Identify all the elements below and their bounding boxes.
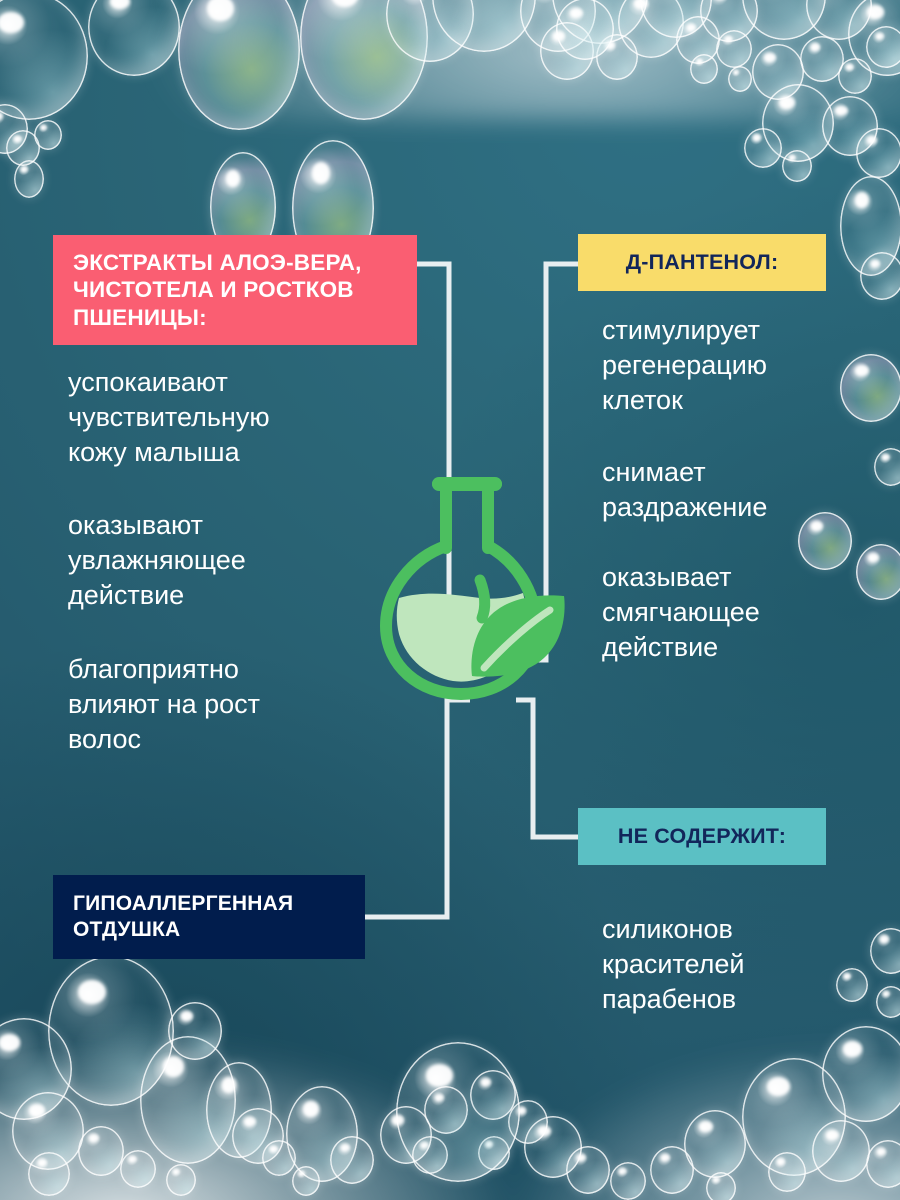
bubble <box>206 1062 272 1158</box>
bubble <box>556 0 614 60</box>
heading-panthenol: Д-ПАНТЕНОЛ: <box>578 234 826 291</box>
bubble <box>292 1166 320 1196</box>
bubble <box>676 16 720 64</box>
bubble <box>34 120 62 150</box>
bubble <box>0 1018 72 1120</box>
bubble <box>412 1136 448 1174</box>
bubble <box>140 1036 236 1164</box>
bubble <box>478 1136 510 1170</box>
bubble <box>840 176 900 276</box>
bubble <box>14 160 44 198</box>
bubble <box>860 252 900 300</box>
bubble <box>822 96 878 156</box>
bubble <box>744 128 782 168</box>
bubble <box>856 128 900 178</box>
bubble <box>12 1092 84 1170</box>
flask-rim <box>432 477 502 491</box>
bubble <box>716 30 752 68</box>
bubble <box>728 66 752 92</box>
bubble <box>768 1152 806 1192</box>
bubble <box>812 1120 870 1182</box>
bubble <box>330 1136 374 1184</box>
bubble <box>552 0 648 44</box>
bubble <box>752 44 804 100</box>
bubble <box>48 956 174 1106</box>
bubble <box>866 1140 900 1188</box>
bubble <box>168 1002 222 1060</box>
ingredients-item-1: успокаивают чувствительную кожу малыша <box>68 365 388 470</box>
bubble <box>508 1100 548 1144</box>
bubble <box>838 58 872 94</box>
panthenol-item-1: стимулирует регенерацию клеток <box>602 313 892 418</box>
leaf-stem <box>480 580 485 618</box>
heading-ingredients: ЭКСТРАКТЫ АЛОЭ-ВЕРА, ЧИСТОТЕЛА И РОСТКОВ… <box>53 235 417 345</box>
panthenol-item-3: оказывает смягчающее действие <box>602 560 892 665</box>
flask-outline <box>438 484 496 548</box>
bubble <box>706 1172 736 1200</box>
bubble <box>690 54 718 84</box>
bubble <box>380 1106 432 1164</box>
free-from-item-1: силиконов красителей парабенов <box>602 912 892 1017</box>
bubble <box>178 0 300 130</box>
bubble <box>566 1146 610 1194</box>
bubble <box>6 130 40 166</box>
bubble <box>286 1086 358 1182</box>
heading-free-from: НЕ СОДЕРЖИТ: <box>578 808 826 865</box>
bubble <box>386 0 474 62</box>
ingredients-item-3: благоприятно влияют на рост волос <box>68 652 388 757</box>
bubble <box>120 1150 156 1188</box>
bubble <box>0 0 88 120</box>
bubble <box>300 0 428 120</box>
bubble <box>866 26 900 68</box>
bubble <box>800 36 844 82</box>
infographic-poster: ЭКСТРАКТЫ АЛОЭ-ВЕРА, ЧИСТОТЕЛА И РОСТКОВ… <box>0 0 900 1200</box>
bubble <box>822 1026 900 1122</box>
bubble <box>432 0 536 52</box>
bubble <box>524 1116 582 1178</box>
ingredients-item-2: оказывают увлажняющее действие <box>68 508 388 613</box>
bubble <box>806 0 872 40</box>
bubble <box>78 1126 124 1176</box>
bubble <box>782 150 812 182</box>
flask-with-leaf-icon <box>368 462 584 702</box>
bubble <box>762 84 834 162</box>
bubble <box>0 104 28 154</box>
foam-haze-bottom <box>0 1010 900 1200</box>
bubble <box>540 22 594 80</box>
bubble <box>610 1162 646 1200</box>
panthenol-item-2: снимает раздражение <box>602 455 892 525</box>
heading-fragrance: ГИПОАЛЛЕРГЕННАЯ ОТДУШКА <box>53 875 365 959</box>
bubble <box>28 1152 70 1196</box>
bubble <box>700 0 758 42</box>
bubble <box>742 0 826 40</box>
bubble <box>596 34 638 80</box>
bubble <box>88 0 180 76</box>
bubble <box>396 1042 520 1182</box>
bubble <box>470 1070 516 1120</box>
bubble <box>848 0 900 76</box>
bubble <box>232 1108 284 1164</box>
bubble <box>742 1058 846 1176</box>
bubble <box>262 1140 296 1176</box>
bubble <box>166 1164 196 1196</box>
bubble <box>640 0 712 38</box>
bubble <box>650 1146 694 1194</box>
bubble <box>684 1110 746 1178</box>
bubble <box>618 0 684 58</box>
bubble <box>520 0 596 52</box>
connector-free-from <box>516 700 578 837</box>
foam-haze-top <box>0 0 900 120</box>
bubble <box>424 1086 468 1134</box>
